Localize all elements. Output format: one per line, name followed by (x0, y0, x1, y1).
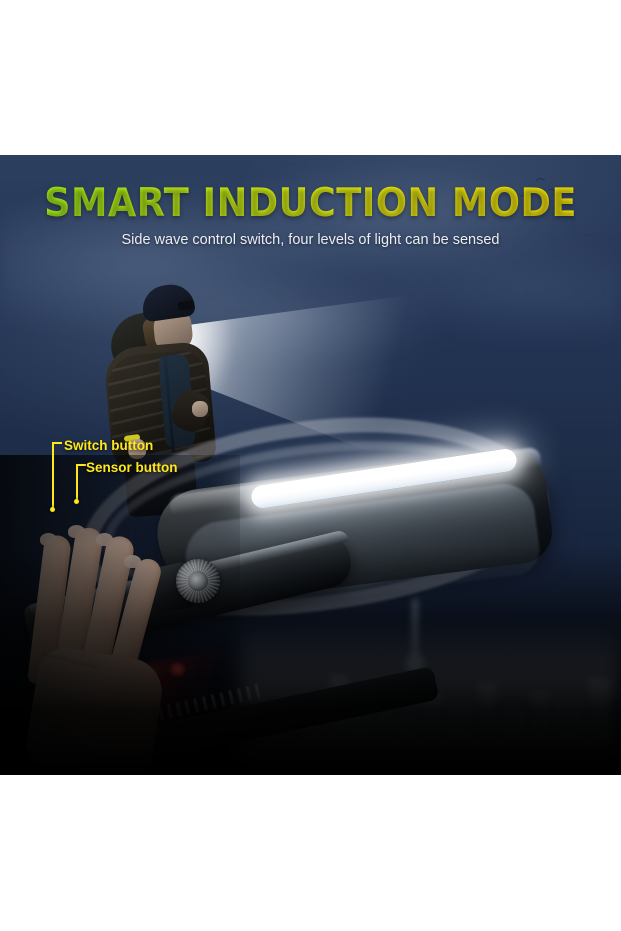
page-subtitle: Side wave control switch, four levels of… (0, 232, 621, 248)
callout-label-switch-button: Switch button (64, 438, 153, 453)
callout-leader-sensor-tick (76, 464, 86, 466)
callout-dot-sensor (74, 499, 79, 504)
bottom-shadow-overlay (0, 545, 621, 775)
product-banner-page: ︵ ︵ ︵ (0, 0, 621, 931)
callout-leader-switch (52, 442, 54, 510)
callout-leader-sensor (76, 464, 78, 502)
callout-label-sensor-button: Sensor button (86, 460, 178, 475)
banner-image: ︵ ︵ ︵ (0, 155, 621, 775)
page-title: SMART INDUCTION MODE (19, 181, 603, 226)
callout-leader-switch-tick (52, 442, 62, 444)
callout-dot-switch (50, 507, 55, 512)
